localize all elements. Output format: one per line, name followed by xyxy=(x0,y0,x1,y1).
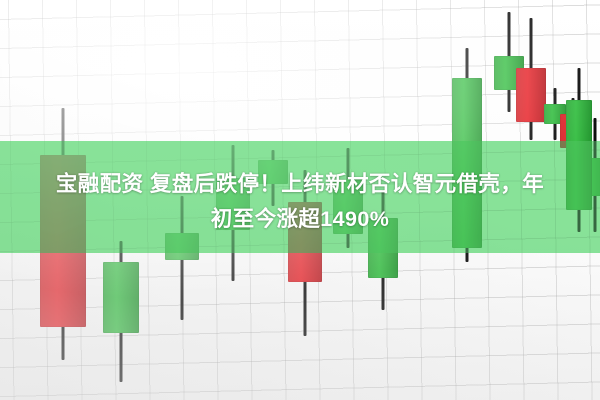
candlestick-11 xyxy=(516,18,546,140)
candlestick-2 xyxy=(103,241,139,382)
candlestick-body-up xyxy=(103,262,139,333)
headline-text: 宝融配资 复盘后跌停！上纬新材否认智元借壳，年 初至今涨超1490% xyxy=(0,167,600,237)
candlestick-body-down xyxy=(516,68,546,122)
news-banner-image: 宝融配资 复盘后跌停！上纬新材否认智元借壳，年 初至今涨超1490% xyxy=(0,0,600,400)
